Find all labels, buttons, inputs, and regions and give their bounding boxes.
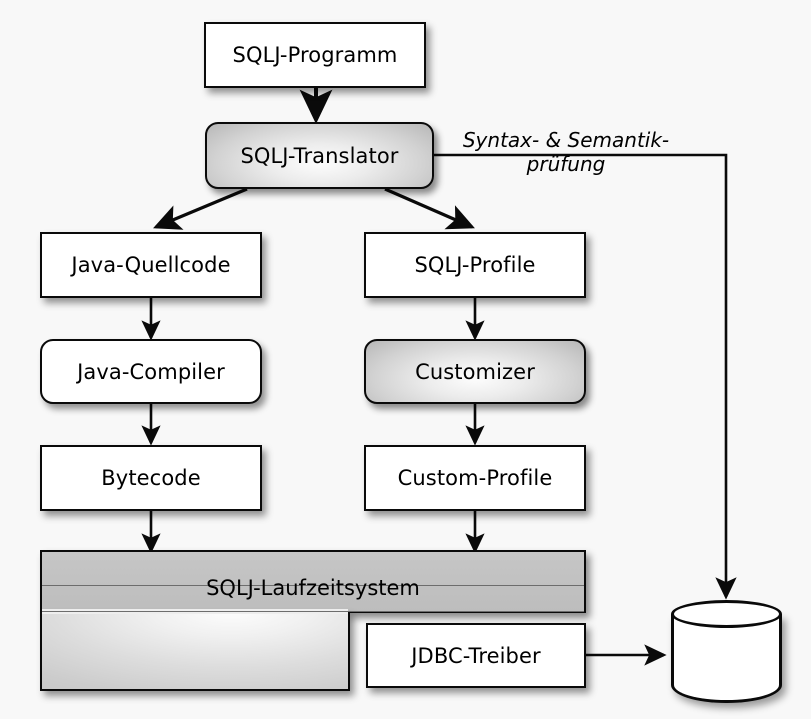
node-jdbc-treiber[interactable]: JDBC-Treiber xyxy=(366,623,586,688)
node-label: SQLJ-Translator xyxy=(240,144,398,168)
node-sqlj-programm[interactable]: SQLJ-Programm xyxy=(204,22,426,88)
node-customizer[interactable]: Customizer xyxy=(364,339,586,404)
runtime-divider-2 xyxy=(42,611,584,612)
node-label: Customizer xyxy=(415,360,535,384)
node-sqlj-translator[interactable]: SQLJ-Translator xyxy=(205,122,434,189)
node-label: SQLJ-Laufzeitsystem xyxy=(40,576,586,600)
node-label: Custom-Profile xyxy=(398,466,553,490)
node-bytecode[interactable]: Bytecode xyxy=(40,445,262,511)
edge-translator-profile xyxy=(385,189,472,227)
edge-translator-quellcode xyxy=(156,189,247,227)
node-custom-profile[interactable]: Custom-Profile xyxy=(364,445,586,511)
node-label: SQLJ-Profile xyxy=(414,253,535,277)
node-label: Java-Compiler xyxy=(77,360,225,384)
node-label: Java-Quellcode xyxy=(71,253,230,277)
annotation-line-1: Syntax- & Semantik- xyxy=(452,128,680,152)
annotation-line-2: prüfung xyxy=(452,152,680,176)
annotation-syntax-semantik-pruefung: Syntax- & Semantik- prüfung xyxy=(452,128,680,177)
node-java-quellcode[interactable]: Java-Quellcode xyxy=(40,232,262,298)
database-cylinder-icon[interactable] xyxy=(671,600,782,703)
cylinder-top-ellipse xyxy=(671,600,782,628)
node-sqlj-profile[interactable]: SQLJ-Profile xyxy=(364,232,586,298)
node-label: JDBC-Treiber xyxy=(411,644,540,668)
node-label: SQLJ-Programm xyxy=(233,43,398,67)
diagram-canvas: SQLJ-Programm SQLJ-Translator Syntax- & … xyxy=(0,0,811,719)
runtime-bottom-block xyxy=(40,611,350,691)
node-label: Bytecode xyxy=(101,466,200,490)
node-java-compiler[interactable]: Java-Compiler xyxy=(40,339,262,404)
